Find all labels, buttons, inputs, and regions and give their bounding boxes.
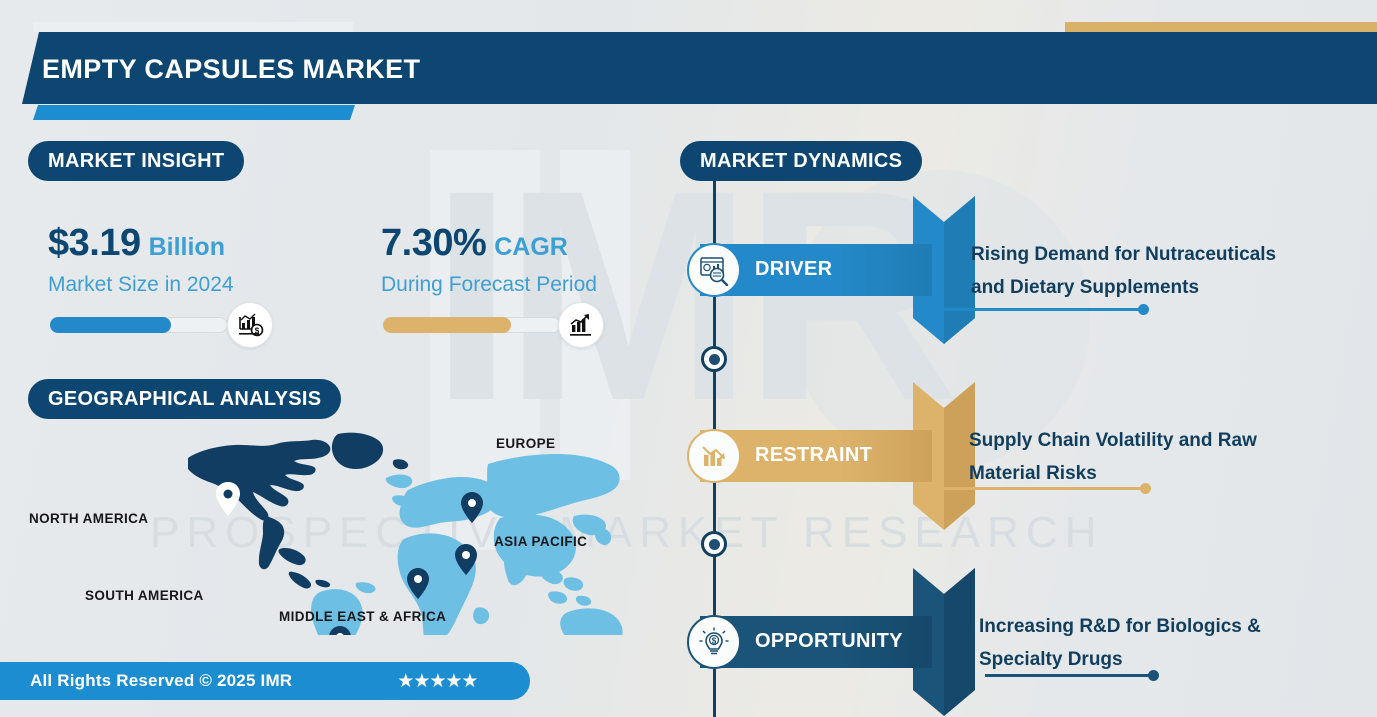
dynamics-text-opportunity: Increasing R&D for Biologics & Specialty… (979, 610, 1261, 677)
progress-fill-cagr (383, 317, 511, 333)
section-pill-market-insight: MARKET INSIGHT (28, 141, 244, 181)
dashboard-search-icon (698, 254, 730, 286)
world-map (170, 420, 640, 635)
svg-text:$: $ (712, 636, 717, 645)
kpi-caption: Market Size in 2024 (48, 273, 234, 297)
kpi-unit: Billion (149, 233, 225, 262)
pill-label: MARKET DYNAMICS (700, 150, 902, 173)
underline-opportunity (985, 674, 1153, 677)
kpi-market-size: $3.19 Billion Market Size in 2024 (48, 222, 234, 297)
growth-chart-icon (567, 311, 595, 339)
dynamics-text-line2: and Dietary Supplements (971, 271, 1276, 304)
dynamics-text-line1: Supply Chain Volatility and Raw (969, 424, 1257, 457)
geo-label-middle-east-africa: MIDDLE EAST & AFRICA (279, 609, 446, 624)
timeline-node (701, 346, 727, 372)
badge-bar-chart-dollar: $ (227, 302, 273, 348)
pill-label: GEOGRAPHICAL ANALYSIS (48, 388, 321, 411)
underline-dot-driver (1138, 304, 1149, 315)
timeline-node (701, 531, 727, 557)
bar-chart-dollar-icon: $ (236, 311, 264, 339)
rating-stars: ★★★★★ (397, 670, 477, 693)
underline-driver (938, 308, 1143, 311)
kpi-value: $3.19 (48, 222, 141, 265)
badge-growth-chart (558, 302, 604, 348)
dynamics-text-restraint: Supply Chain Volatility and Raw Material… (969, 424, 1257, 491)
dynamics-text-line2: Material Risks (969, 457, 1257, 490)
footer-bar: All Rights Reserved © 2025 IMR ★★★★★ (0, 662, 530, 700)
section-pill-geographical-analysis: GEOGRAPHICAL ANALYSIS (28, 379, 341, 419)
header-ghost-strip (33, 22, 353, 32)
map-region-north-america (188, 433, 408, 589)
icon-circle-driver (687, 243, 741, 297)
underline-dot-opportunity (1148, 670, 1159, 681)
geo-label-asia-pacific: ASIA PACIFIC (494, 534, 587, 549)
dynamics-text-driver: Rising Demand for Nutraceuticals and Die… (971, 238, 1276, 305)
page-title: EMPTY CAPSULES MARKET (42, 54, 420, 85)
icon-circle-opportunity: $ (687, 615, 741, 669)
infographic-root: IMR PROSPECTIVE MARKET RESEARCH EMPTY CA… (0, 0, 1377, 717)
kpi-value: 7.30% (381, 222, 486, 265)
icon-circle-restraint (687, 429, 741, 483)
header-blue-underbar (33, 105, 355, 120)
kpi-unit: CAGR (494, 233, 568, 262)
dynamics-label-restraint: RESTRAINT (755, 444, 872, 467)
geo-label-europe: EUROPE (496, 436, 555, 451)
dynamics-text-line2: Specialty Drugs (979, 643, 1261, 676)
dynamics-label-opportunity: OPPORTUNITY (755, 630, 903, 653)
section-pill-market-dynamics: MARKET DYNAMICS (680, 141, 922, 181)
copyright-text: All Rights Reserved © 2025 IMR (30, 671, 292, 691)
underline-dot-restraint (1140, 483, 1151, 494)
geo-label-south-america: SOUTH AMERICA (85, 588, 204, 603)
dynamics-text-line1: Rising Demand for Nutraceuticals (971, 238, 1276, 271)
dynamics-text-line1: Increasing R&D for Biologics & (979, 610, 1261, 643)
geo-label-north-america: NORTH AMERICA (29, 511, 148, 526)
declining-bar-chart-icon (698, 440, 730, 472)
pill-label: MARKET INSIGHT (48, 150, 224, 173)
underline-restraint (938, 487, 1145, 490)
lightbulb-dollar-icon: $ (698, 626, 730, 658)
progress-fill-market-size (50, 317, 171, 333)
kpi-caption: During Forecast Period (381, 273, 597, 297)
kpi-cagr: 7.30% CAGR During Forecast Period (381, 222, 597, 297)
dynamics-label-driver: DRIVER (755, 258, 832, 281)
